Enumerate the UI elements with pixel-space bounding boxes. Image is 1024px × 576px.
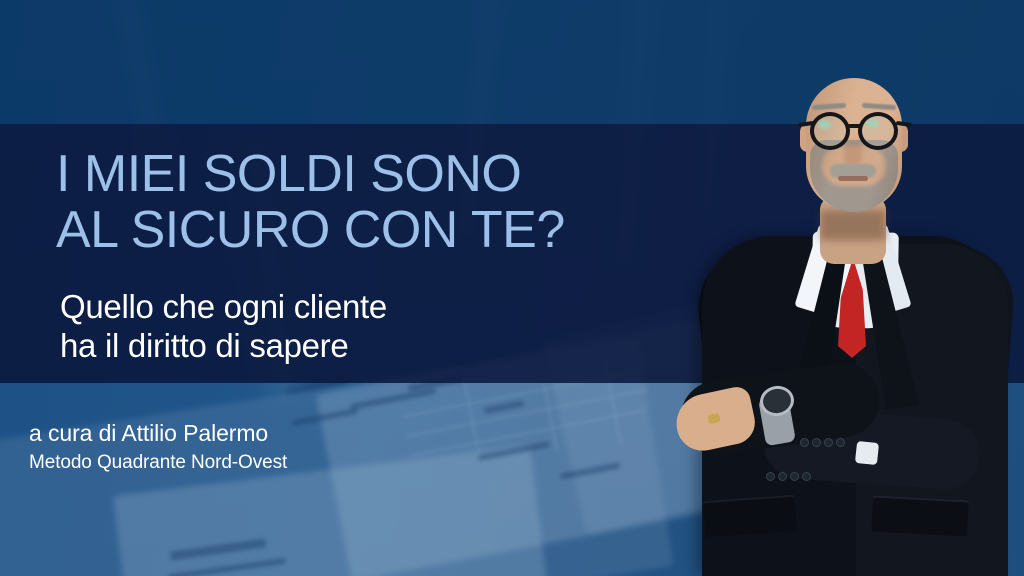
slide-headline: I MIEI SOLDI SONO AL SICURO CON TE? [56, 146, 565, 258]
credit-method: Metodo Quadrante Nord-Ovest [29, 451, 287, 476]
slide-credit: a cura di Attilio Palermo Metodo Quadran… [29, 419, 287, 475]
credit-author: a cura di Attilio Palermo [29, 419, 287, 448]
headline-line-2: AL SICURO CON TE? [56, 202, 565, 258]
subheadline-line-2: ha il diritto di sapere [60, 327, 387, 366]
slide-subheadline: Quello che ogni cliente ha il diritto di… [60, 288, 387, 365]
subheadline-line-1: Quello che ogni cliente [60, 288, 387, 325]
slide-text-layer: I MIEI SOLDI SONO AL SICURO CON TE? Quel… [0, 0, 1024, 576]
headline-line-1: I MIEI SOLDI SONO [56, 145, 521, 203]
presentation-slide: I MIEI SOLDI SONO AL SICURO CON TE? Quel… [0, 0, 1024, 576]
